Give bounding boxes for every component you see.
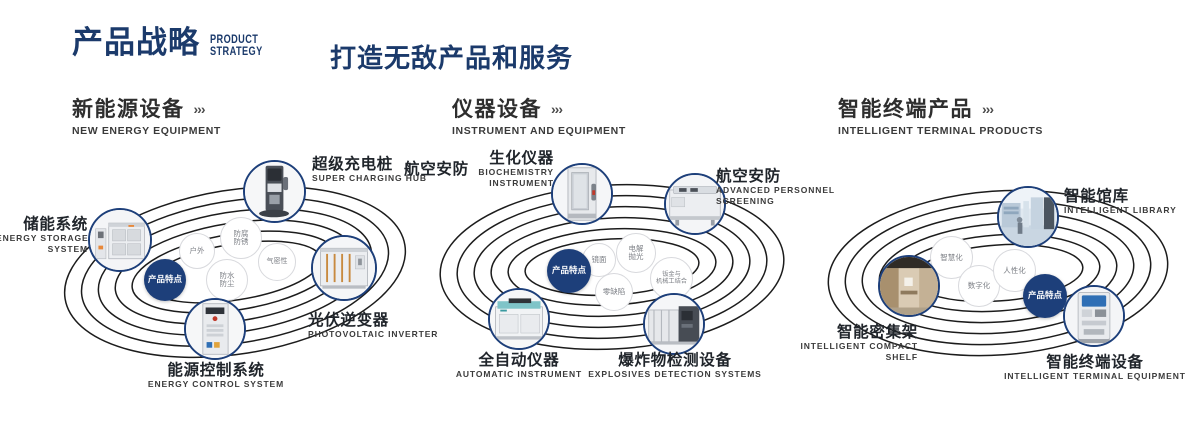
page-title-en-line1: PRODUCT — [210, 34, 258, 46]
node-label-intelligent-terminal-equipment: 智能终端设备 INTELLIGENT TERMINAL EQUIPMENT — [990, 353, 1200, 382]
node-label-cn: 爆炸物检测设备 — [565, 351, 785, 369]
product-features-badge: 产品特点 — [144, 259, 186, 301]
photovoltaic-inverter-image — [313, 237, 375, 299]
chevron-right-icon: ››› — [982, 96, 993, 122]
feature-bubble: 防水 防尘 — [206, 259, 248, 301]
node-label-energy-storage-system: 储能系统 ENERGY STORAGE SYSTEM — [0, 215, 88, 255]
product-features-label: 产品特点 — [148, 276, 182, 285]
chevron-right-icon: ››› — [194, 96, 205, 122]
node-biochemistry-instrument[interactable] — [551, 163, 613, 225]
super-charging-hub-image — [245, 162, 304, 221]
energy-storage-system-image — [90, 210, 150, 270]
feature-bubble-label: 电解 抛光 — [629, 245, 644, 261]
intelligent-compact-shelf-image — [880, 257, 938, 315]
node-energy-control-system[interactable] — [184, 298, 246, 360]
feature-bubble-label: 智慧化 — [940, 254, 963, 262]
section-heading-cn-text: 仪器设备 — [452, 96, 542, 122]
node-label-cn: 智能终端设备 — [990, 353, 1200, 371]
cluster-intelligent: 智慧化 数字化 人性化 产品特点 — [810, 155, 1200, 390]
biochemistry-instrument-image — [553, 165, 611, 223]
cluster-new-energy: 户外 防腐 防锈 防水 防尘 气密性 产品特点 — [40, 155, 440, 390]
section-heading-en: INTELLIGENT TERMINAL PRODUCTS — [838, 125, 1043, 137]
feature-bubble: 气密性 — [258, 243, 296, 281]
node-super-charging-hub[interactable] — [243, 160, 306, 223]
node-explosives-detection-systems[interactable] — [643, 293, 705, 355]
node-label-intelligent-compact-shelf: 智能密集架 INTELLIGENT COMPACT SHELF — [758, 323, 918, 363]
node-label-cn: 智能馆库 — [1064, 187, 1177, 205]
feature-bubble-label: 防水 防尘 — [220, 272, 235, 288]
section-heading-new-energy: 新能源设备 ››› NEW ENERGY EQUIPMENT — [72, 96, 221, 137]
product-features-badge: 产品特点 — [547, 249, 591, 293]
node-intelligent-compact-shelf[interactable] — [878, 255, 940, 317]
node-label-biochemistry-instrument: 生化仪器 BIOCHEMISTRY INSTRUMENT — [430, 149, 554, 189]
node-label-en-line1: PHOTOVOLTAIC INVERTER — [308, 329, 438, 340]
section-heading-cn: 智能终端产品 ››› — [838, 96, 1043, 122]
node-label-en-line1: ENERGY CONTROL SYSTEM — [98, 379, 334, 390]
product-features-label: 产品特点 — [552, 267, 586, 276]
node-label-en-line1: INTELLIGENT TERMINAL EQUIPMENT — [990, 371, 1200, 382]
section-heading-cn: 新能源设备 ››› — [72, 96, 221, 122]
node-label-en-line2: SHELF — [758, 352, 918, 363]
node-label-cn: 储能系统 — [0, 215, 88, 233]
node-label-energy-control-system: 能源控制系统 ENERGY CONTROL SYSTEM — [98, 361, 334, 390]
explosives-detection-systems-image — [645, 295, 703, 353]
product-features-label: 产品特点 — [1028, 292, 1062, 301]
node-label-explosives-detection-systems: 爆炸物检测设备 EXPLOSIVES DETECTION SYSTEMS — [565, 351, 785, 380]
node-photovoltaic-inverter[interactable] — [311, 235, 377, 301]
node-intelligent-terminal-equipment[interactable] — [1063, 285, 1125, 347]
node-label-en-line1: INTELLIGENT COMPACT — [758, 341, 918, 352]
node-label-en-line1: BIOCHEMISTRY — [430, 167, 554, 178]
page-subtitle: 打造无敌产品和服务 — [330, 38, 573, 75]
node-label-cn: 能源控制系统 — [98, 361, 334, 379]
feature-bubble-label: 户外 — [190, 247, 205, 255]
feature-bubble: 电解 抛光 — [616, 233, 656, 273]
feature-bubble-label: 钣金与 机械工结合 — [656, 272, 687, 285]
automatic-instrument-image — [490, 290, 548, 348]
energy-control-system-image — [186, 300, 244, 358]
section-heading-en: INSTRUMENT AND EQUIPMENT — [452, 125, 626, 137]
node-label-en-line2: INSTRUMENT — [430, 178, 554, 189]
node-label-en-line1: EXPLOSIVES DETECTION SYSTEMS — [565, 369, 785, 380]
product-features-badge: 产品特点 — [1023, 274, 1067, 318]
node-energy-storage-system[interactable] — [88, 208, 152, 272]
node-label-en-line1: INTELLIGENT LIBRARY — [1064, 205, 1177, 216]
intelligent-library-image — [999, 188, 1057, 246]
node-label-photovoltaic-inverter: 光伏逆变器 PHOTOVOLTAIC INVERTER — [308, 311, 438, 340]
feature-bubble-label: 镜面 — [592, 256, 607, 264]
feature-bubble-label: 气密性 — [267, 258, 288, 265]
section-heading-instrument: 仪器设备 ››› INSTRUMENT AND EQUIPMENT — [452, 96, 626, 137]
chevron-right-icon: ››› — [551, 96, 562, 122]
page-title-en-line2: STRATEGY — [210, 46, 263, 58]
page-title-en: PRODUCT STRATEGY — [210, 35, 263, 58]
feature-bubble: 防腐 防锈 — [220, 217, 262, 259]
node-label-cn: 光伏逆变器 — [308, 311, 438, 329]
feature-bubble: 户外 — [179, 233, 215, 269]
node-label-en-line1: ENERGY STORAGE — [0, 233, 88, 244]
node-automatic-instrument[interactable] — [488, 288, 550, 350]
feature-bubble: 零缺陷 — [595, 273, 633, 311]
intelligent-terminal-equipment-image — [1065, 287, 1123, 345]
section-heading-cn-text: 智能终端产品 — [838, 96, 973, 122]
page-title: 产品战略 PRODUCT STRATEGY — [72, 28, 276, 59]
feature-bubble-label: 数字化 — [968, 282, 991, 290]
node-label-en-line2: SYSTEM — [0, 244, 88, 255]
node-intelligent-library[interactable] — [997, 186, 1059, 248]
feature-bubble-label: 防腐 防锈 — [234, 230, 249, 246]
feature-bubble-label: 人性化 — [1003, 267, 1026, 275]
feature-bubble-label: 零缺陷 — [603, 288, 626, 296]
section-heading-intelligent: 智能终端产品 ››› INTELLIGENT TERMINAL PRODUCTS — [838, 96, 1043, 137]
section-heading-cn: 仪器设备 ››› — [452, 96, 626, 122]
page-title-cn: 产品战略 — [72, 28, 200, 59]
section-heading-cn-text: 新能源设备 — [72, 96, 185, 122]
section-heading-en: NEW ENERGY EQUIPMENT — [72, 125, 221, 137]
node-label-cn: 智能密集架 — [758, 323, 918, 341]
node-label-intelligent-library: 智能馆库 INTELLIGENT LIBRARY — [1064, 187, 1177, 216]
node-label-cn: 生化仪器 — [430, 149, 554, 167]
product-strategy-infographic: 产品战略 PRODUCT STRATEGY 打造无敌产品和服务 新能源设备 ››… — [0, 0, 1200, 422]
